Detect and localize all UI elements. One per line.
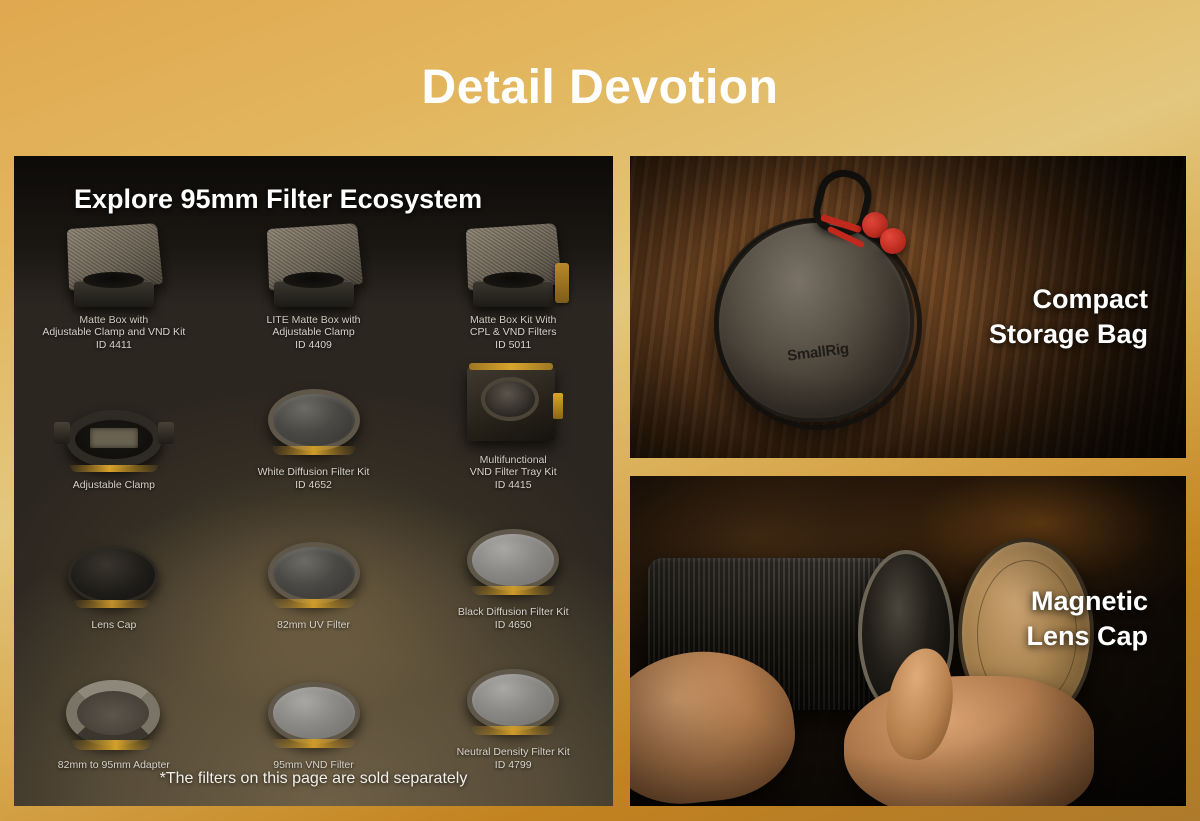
matte-box-kit-icon xyxy=(419,223,607,309)
product-item-95mm-vnd-filter[interactable]: 95mm VND Filter xyxy=(214,632,414,772)
product-label: Matte Box with Adjustable Clamp and VND … xyxy=(42,314,185,352)
product-label: White Diffusion Filter Kit ID 4652 xyxy=(258,466,370,492)
filter-disc-icon xyxy=(220,375,408,461)
product-label: Adjustable Clamp xyxy=(73,479,155,492)
adapter-ring-icon xyxy=(20,668,208,754)
product-label: LITE Matte Box with Adjustable Clamp ID … xyxy=(267,314,361,352)
product-label: Black Diffusion Filter Kit ID 4650 xyxy=(458,606,569,632)
ecosystem-footnote: *The filters on this page are sold separ… xyxy=(14,770,613,788)
product-item-82mm-to-95mm-adapter[interactable]: 82mm to 95mm Adapter xyxy=(14,632,214,772)
magnetic-lens-cap-photo-panel: Magnetic Lens Cap xyxy=(630,476,1186,806)
magnetic-lens-cap-caption: Magnetic Lens Cap xyxy=(1026,584,1148,653)
product-item-lens-cap[interactable]: Lens Cap xyxy=(14,492,214,632)
product-grid: Matte Box with Adjustable Clamp and VND … xyxy=(14,212,613,772)
lens-cap-icon xyxy=(20,528,208,614)
product-label: Lens Cap xyxy=(91,619,136,632)
filter-disc-icon xyxy=(419,655,607,741)
matte-box-icon xyxy=(20,223,208,309)
product-grid-row: Lens Cap 82mm UV Filter Black Diffusion … xyxy=(14,492,613,632)
product-item-matte-box-kit-5011[interactable]: Matte Box Kit With CPL & VND Filters ID … xyxy=(413,212,613,352)
product-label: 82mm UV Filter xyxy=(277,619,350,632)
storage-bag-photo-panel: SmallRig Compact Storage Bag xyxy=(630,156,1186,458)
filter-ecosystem-panel: Explore 95mm Filter Ecosystem Matte Box … xyxy=(14,156,613,806)
product-grid-row: 82mm to 95mm Adapter 95mm VND Filter Neu… xyxy=(14,632,613,772)
filter-disc-icon xyxy=(220,528,408,614)
matte-box-icon xyxy=(220,223,408,309)
product-item-lite-matte-box-4409[interactable]: LITE Matte Box with Adjustable Clamp ID … xyxy=(214,212,414,352)
product-label: Multifunctional VND Filter Tray Kit ID 4… xyxy=(470,454,557,492)
product-grid-row: Adjustable Clamp White Diffusion Filter … xyxy=(14,352,613,492)
marketing-page: Detail Devotion Explore 95mm Filter Ecos… xyxy=(0,0,1200,821)
filter-disc-icon xyxy=(419,515,607,601)
ecosystem-heading: Explore 95mm Filter Ecosystem xyxy=(74,184,482,215)
tray-kit-icon xyxy=(419,363,607,449)
product-label: Neutral Density Filter Kit ID 4799 xyxy=(457,746,570,772)
product-grid-row: Matte Box with Adjustable Clamp and VND … xyxy=(14,212,613,352)
product-item-black-diffusion-4650[interactable]: Black Diffusion Filter Kit ID 4650 xyxy=(413,492,613,632)
product-item-neutral-density-kit-4799[interactable]: Neutral Density Filter Kit ID 4799 xyxy=(413,632,613,772)
filter-disc-icon xyxy=(220,668,408,754)
page-title: Detail Devotion xyxy=(0,62,1200,115)
hand-holding-cap xyxy=(844,676,1094,806)
storage-bag-caption: Compact Storage Bag xyxy=(989,282,1148,351)
product-label: Matte Box Kit With CPL & VND Filters ID … xyxy=(470,314,557,352)
product-item-matte-box-4411[interactable]: Matte Box with Adjustable Clamp and VND … xyxy=(14,212,214,352)
clamp-ring-icon xyxy=(20,388,208,474)
product-item-white-diffusion-4652[interactable]: White Diffusion Filter Kit ID 4652 xyxy=(214,352,414,492)
product-item-vnd-tray-kit-4415[interactable]: Multifunctional VND Filter Tray Kit ID 4… xyxy=(413,352,613,492)
product-item-adjustable-clamp[interactable]: Adjustable Clamp xyxy=(14,352,214,492)
product-item-82mm-uv-filter[interactable]: 82mm UV Filter xyxy=(214,492,414,632)
